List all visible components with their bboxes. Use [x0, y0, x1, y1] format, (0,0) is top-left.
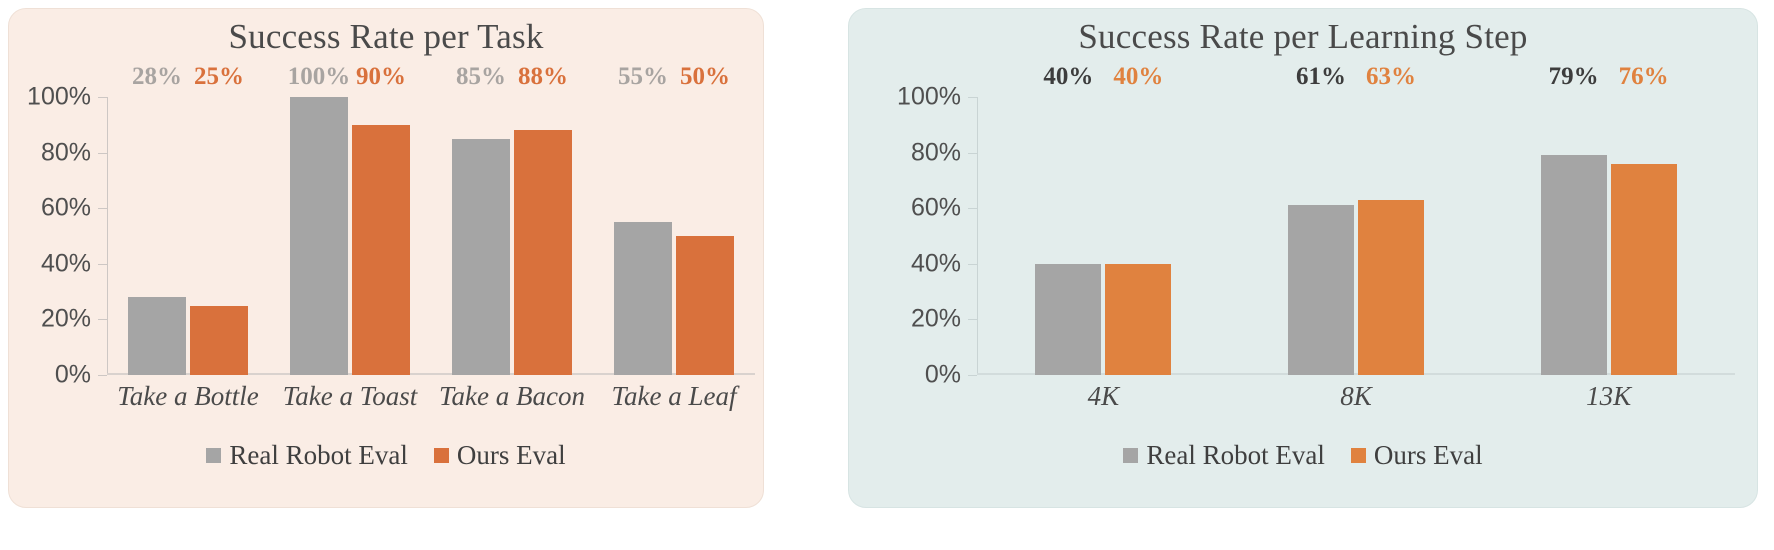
bar-container: 50% [676, 97, 734, 375]
legend-item-real-robot-eval[interactable]: Real Robot Eval [206, 440, 407, 471]
chart-title: Success Rate per Task [9, 17, 763, 57]
figure-root: Success Rate per Task 100% 80% 60% 40% 2… [0, 0, 1774, 550]
legend-swatch-icon [206, 448, 221, 463]
category-label: Take a Leaf [593, 381, 755, 412]
legend-label: Real Robot Eval [1146, 440, 1324, 471]
bar-value-label: 25% [194, 63, 244, 91]
y-tick-label-40: 40% [911, 249, 961, 278]
bar-value-label: 61% [1296, 63, 1346, 91]
legend-swatch-icon [434, 448, 449, 463]
legend-label: Ours Eval [1374, 440, 1483, 471]
y-tick-label-60: 60% [911, 194, 961, 223]
legend-item-real-robot-eval[interactable]: Real Robot Eval [1123, 440, 1324, 471]
bar-container: 76% [1611, 97, 1677, 375]
y-tick-0 [968, 375, 977, 376]
bar-ours-eval[interactable] [514, 130, 572, 375]
bar-value-label: 55% [618, 63, 668, 91]
y-tick-60 [968, 208, 977, 209]
category-labels: Take a Bottle Take a Toast Take a Bacon … [107, 381, 755, 412]
category-labels: 4K 8K 13K [977, 381, 1735, 412]
bar-container: 85% [452, 97, 510, 375]
plot-area: 100% 80% 60% 40% 20% 0% 40% 40% [977, 97, 1735, 375]
y-tick-40 [968, 264, 977, 265]
bar-real-robot-eval[interactable] [614, 222, 672, 375]
y-tick-20 [968, 319, 977, 320]
bar-real-robot-eval[interactable] [1035, 264, 1101, 375]
y-tick-20 [98, 319, 107, 320]
category-label: 13K [1482, 381, 1735, 412]
bar-value-label: 40% [1043, 63, 1093, 91]
bar-container: 100% [290, 97, 348, 375]
bar-real-robot-eval[interactable] [128, 297, 186, 375]
y-tick-label-20: 20% [41, 305, 91, 334]
y-tick-80 [968, 153, 977, 154]
bar-value-label: 76% [1619, 63, 1669, 91]
bar-value-label: 100% [288, 63, 351, 91]
bar-real-robot-eval[interactable] [1288, 205, 1354, 375]
bar-group: 28% 25% [107, 97, 269, 375]
bar-real-robot-eval[interactable] [290, 97, 348, 375]
bar-group: 79% 76% [1482, 97, 1735, 375]
category-label: Take a Bacon [431, 381, 593, 412]
bar-container: 90% [352, 97, 410, 375]
bar-ours-eval[interactable] [1611, 164, 1677, 375]
y-tick-label-100: 100% [897, 83, 961, 112]
chart-panel-success-rate-per-task: Success Rate per Task 100% 80% 60% 40% 2… [8, 8, 764, 508]
y-tick-label-40: 40% [41, 249, 91, 278]
bar-group: 55% 50% [593, 97, 755, 375]
bar-ours-eval[interactable] [352, 125, 410, 375]
bar-real-robot-eval[interactable] [1541, 155, 1607, 375]
bar-container: 61% [1288, 97, 1354, 375]
bar-ours-eval[interactable] [676, 236, 734, 375]
bar-value-label: 63% [1366, 63, 1416, 91]
y-tick-80 [98, 153, 107, 154]
y-tick-label-80: 80% [911, 138, 961, 167]
category-label: 8K [1230, 381, 1483, 412]
bar-container: 88% [514, 97, 572, 375]
bar-ours-eval[interactable] [1358, 200, 1424, 375]
bar-value-label: 79% [1549, 63, 1599, 91]
bar-ours-eval[interactable] [190, 306, 248, 376]
bar-value-label: 50% [680, 63, 730, 91]
category-label: 4K [977, 381, 1230, 412]
y-tick-40 [98, 264, 107, 265]
legend-label: Ours Eval [457, 440, 566, 471]
y-tick-label-100: 100% [27, 83, 91, 112]
bar-container: 55% [614, 97, 672, 375]
y-tick-0 [98, 375, 107, 376]
bar-group: 85% 88% [431, 97, 593, 375]
chart-title: Success Rate per Learning Step [849, 17, 1757, 57]
y-tick-label-80: 80% [41, 138, 91, 167]
y-tick-100 [968, 97, 977, 98]
bar-container: 28% [128, 97, 186, 375]
bar-ours-eval[interactable] [1105, 264, 1171, 375]
bar-container: 25% [190, 97, 248, 375]
bar-container: 63% [1358, 97, 1424, 375]
y-tick-label-0: 0% [925, 361, 961, 390]
legend-swatch-icon [1351, 448, 1366, 463]
bar-group: 61% 63% [1230, 97, 1483, 375]
y-tick-60 [98, 208, 107, 209]
bar-real-robot-eval[interactable] [452, 139, 510, 375]
chart-legend: Real Robot Eval Ours Eval [9, 440, 763, 471]
bar-value-label: 28% [132, 63, 182, 91]
y-tick-label-0: 0% [55, 361, 91, 390]
bar-value-label: 40% [1113, 63, 1163, 91]
y-tick-label-20: 20% [911, 305, 961, 334]
bar-groups: 28% 25% 100% 90% [107, 97, 755, 375]
bar-group: 100% 90% [269, 97, 431, 375]
legend-item-ours-eval[interactable]: Ours Eval [1351, 440, 1483, 471]
plot-area: 100% 80% 60% 40% 20% 0% 28% 25% [107, 97, 755, 375]
bar-container: 40% [1035, 97, 1101, 375]
legend-item-ours-eval[interactable]: Ours Eval [434, 440, 566, 471]
legend-swatch-icon [1123, 448, 1138, 463]
bar-container: 79% [1541, 97, 1607, 375]
bar-value-label: 90% [356, 63, 406, 91]
y-tick-label-60: 60% [41, 194, 91, 223]
bar-groups: 40% 40% 61% 63% [977, 97, 1735, 375]
chart-panel-success-rate-per-learning-step: Success Rate per Learning Step 100% 80% … [848, 8, 1758, 508]
bar-group: 40% 40% [977, 97, 1230, 375]
category-label: Take a Toast [269, 381, 431, 412]
bar-container: 40% [1105, 97, 1171, 375]
bar-value-label: 88% [518, 63, 568, 91]
chart-legend: Real Robot Eval Ours Eval [849, 440, 1757, 471]
legend-label: Real Robot Eval [229, 440, 407, 471]
y-tick-100 [98, 97, 107, 98]
bar-value-label: 85% [456, 63, 506, 91]
category-label: Take a Bottle [107, 381, 269, 412]
